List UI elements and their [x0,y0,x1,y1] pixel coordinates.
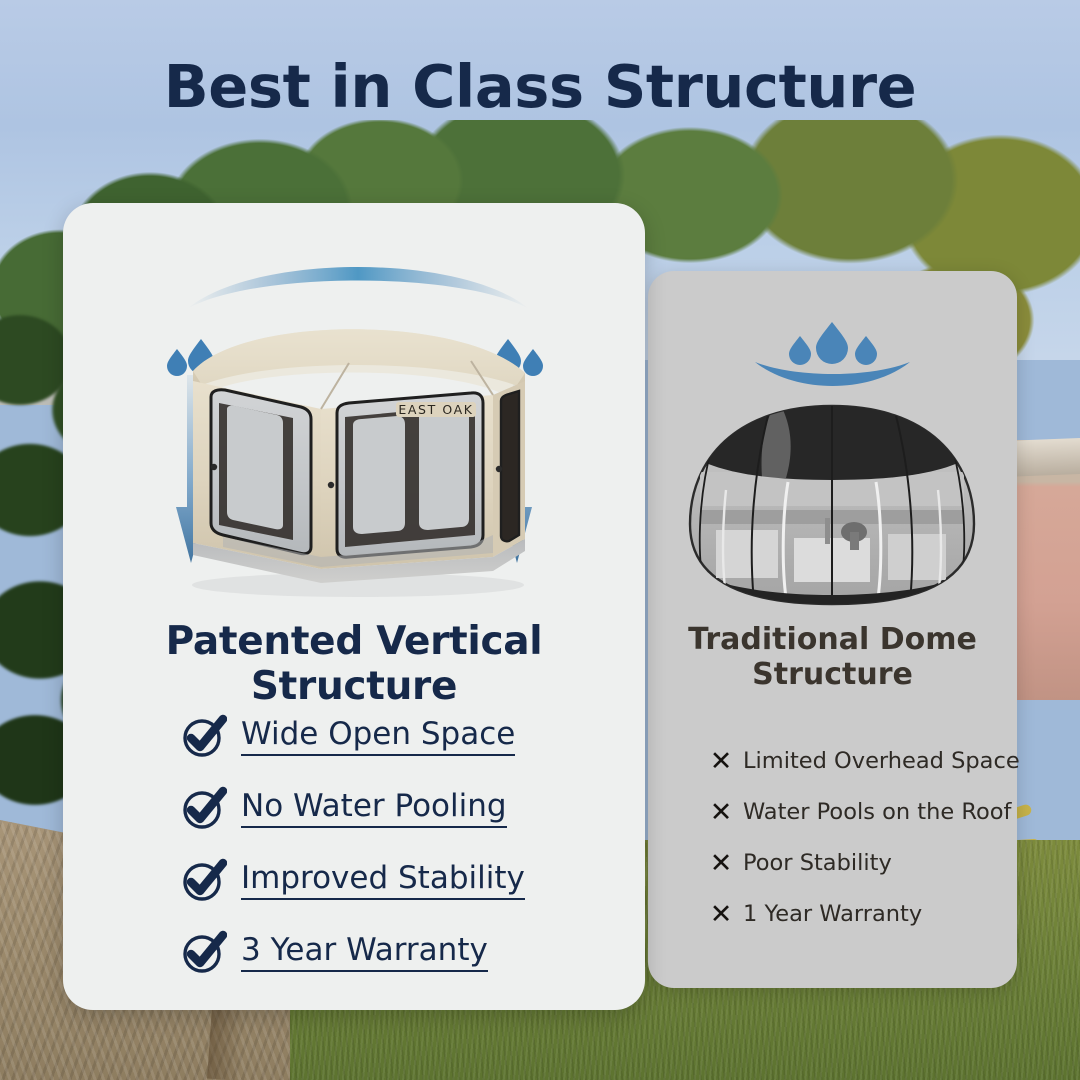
feature-label: 3 Year Warranty [241,934,488,972]
list-item: ✕ 1 Year Warranty [708,889,1028,940]
brand-logo: EAST OAK [398,402,473,417]
x-icon: ✕ [708,902,734,928]
traditional-heading-line2: Structure [752,657,913,692]
x-icon: ✕ [708,800,734,826]
traditional-heading-line1: Traditional Dome [688,622,977,657]
drawback-label: Limited Overhead Space [743,749,1020,774]
list-item: No Water Pooling [181,773,641,845]
list-item: ✕ Limited Overhead Space [708,736,1028,787]
vertical-structure-tent-image: EAST OAK [153,285,563,605]
patented-heading: Patented Vertical Structure [63,619,645,709]
list-item: ✕ Water Pools on the Roof [708,787,1028,838]
x-icon: ✕ [708,749,734,775]
feature-label: No Water Pooling [241,790,507,828]
list-item: 3 Year Warranty [181,917,641,989]
check-circle-icon [181,786,227,832]
tent-illustration: EAST OAK [63,237,645,607]
check-circle-icon [181,930,227,976]
page-title: Best in Class Structure [0,52,1080,121]
x-icon: ✕ [708,851,734,877]
drawback-label: Water Pools on the Roof [743,800,1011,825]
drawback-label: 1 Year Warranty [743,902,922,927]
list-item: Wide Open Space [181,701,641,773]
traditional-dome-card: Traditional Dome Structure ✕ Limited Ove… [648,271,1017,988]
list-item: ✕ Poor Stability [708,838,1028,889]
feature-list: Wide Open Space No Water Pooling Improve… [181,701,641,989]
check-circle-icon [181,858,227,904]
dome-illustration [648,316,1017,626]
drawback-list: ✕ Limited Overhead Space ✕ Water Pools o… [708,736,1028,940]
water-pooling-icon [750,316,915,398]
patented-structure-card: EAST OAK Patented Vertical Structure Wid… [63,203,645,1010]
feature-label: Improved Stability [241,862,525,900]
check-circle-icon [181,714,227,760]
list-item: Improved Stability [181,845,641,917]
feature-label: Wide Open Space [241,718,515,756]
drawback-label: Poor Stability [743,851,892,876]
traditional-heading: Traditional Dome Structure [666,623,999,693]
dome-tent-image [682,398,982,620]
